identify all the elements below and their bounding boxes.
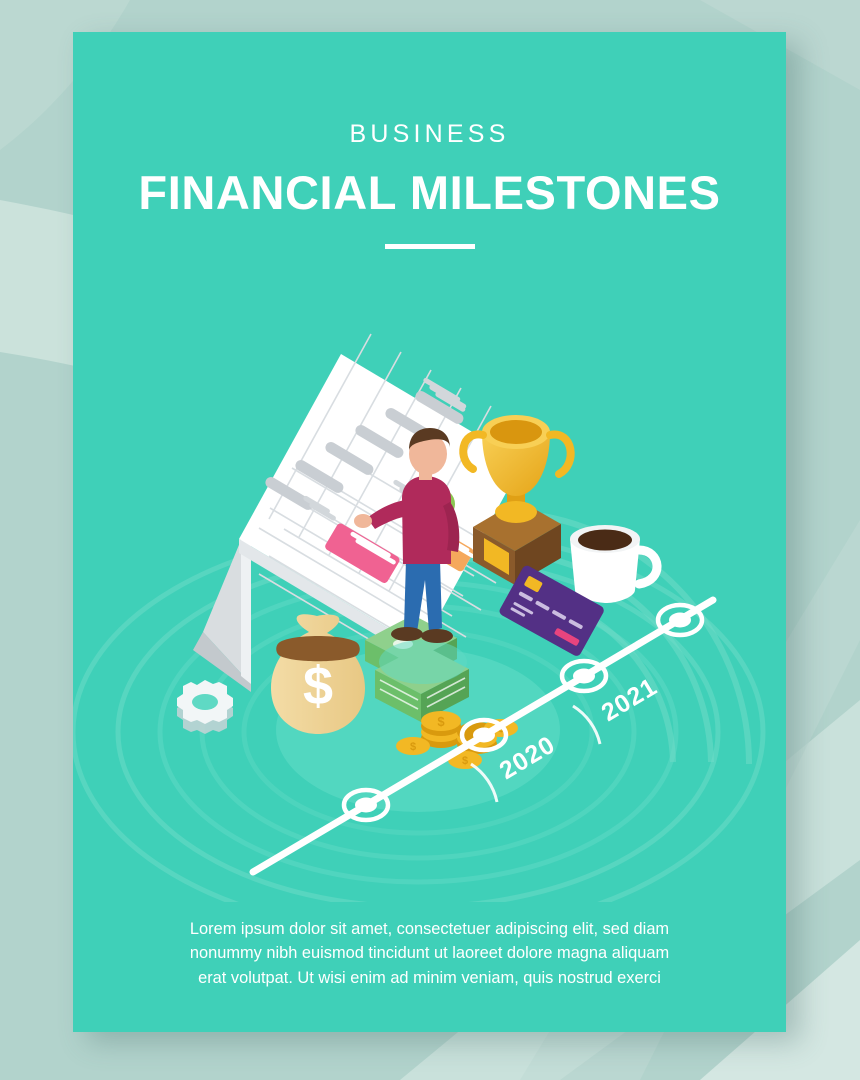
svg-text:$: $ — [437, 714, 445, 729]
illustration-stage: $ — [73, 332, 786, 902]
person-shadow — [379, 640, 467, 684]
trophy-foot — [495, 501, 537, 523]
calendar-easel-edge — [241, 540, 251, 684]
coffee-mug — [570, 525, 657, 603]
poster-footer: Lorem ipsum dolor sit amet, consectetuer… — [73, 917, 786, 990]
poster-header: BUSINESS FINANCIAL MILESTONES — [73, 32, 786, 249]
coin-loose-1: $ — [396, 737, 430, 755]
mug-coffee — [578, 530, 632, 551]
person-hand — [354, 514, 372, 528]
person-torso — [402, 476, 451, 564]
svg-text:$: $ — [462, 755, 468, 767]
page-title: FINANCIAL MILESTONES — [73, 169, 786, 216]
eyebrow-text: BUSINESS — [73, 122, 786, 147]
poster-card: BUSINESS FINANCIAL MILESTONES — [73, 32, 786, 1032]
bag-dollar-sign: $ — [303, 656, 333, 716]
gear — [177, 680, 233, 734]
svg-text:$: $ — [410, 741, 416, 753]
person-shoe-left — [391, 627, 423, 641]
body-paragraph: Lorem ipsum dolor sit amet, consectetuer… — [174, 917, 686, 990]
timeline-node-2021[interactable] — [562, 661, 606, 691]
title-divider — [385, 244, 475, 249]
gear-hole — [192, 694, 218, 710]
person-shoe-right — [421, 629, 453, 643]
illustration-svg: $ — [73, 332, 786, 902]
trophy-handle-right — [550, 435, 571, 474]
timeline-node-end[interactable] — [658, 605, 702, 635]
trophy-bowl-inner — [490, 420, 542, 444]
